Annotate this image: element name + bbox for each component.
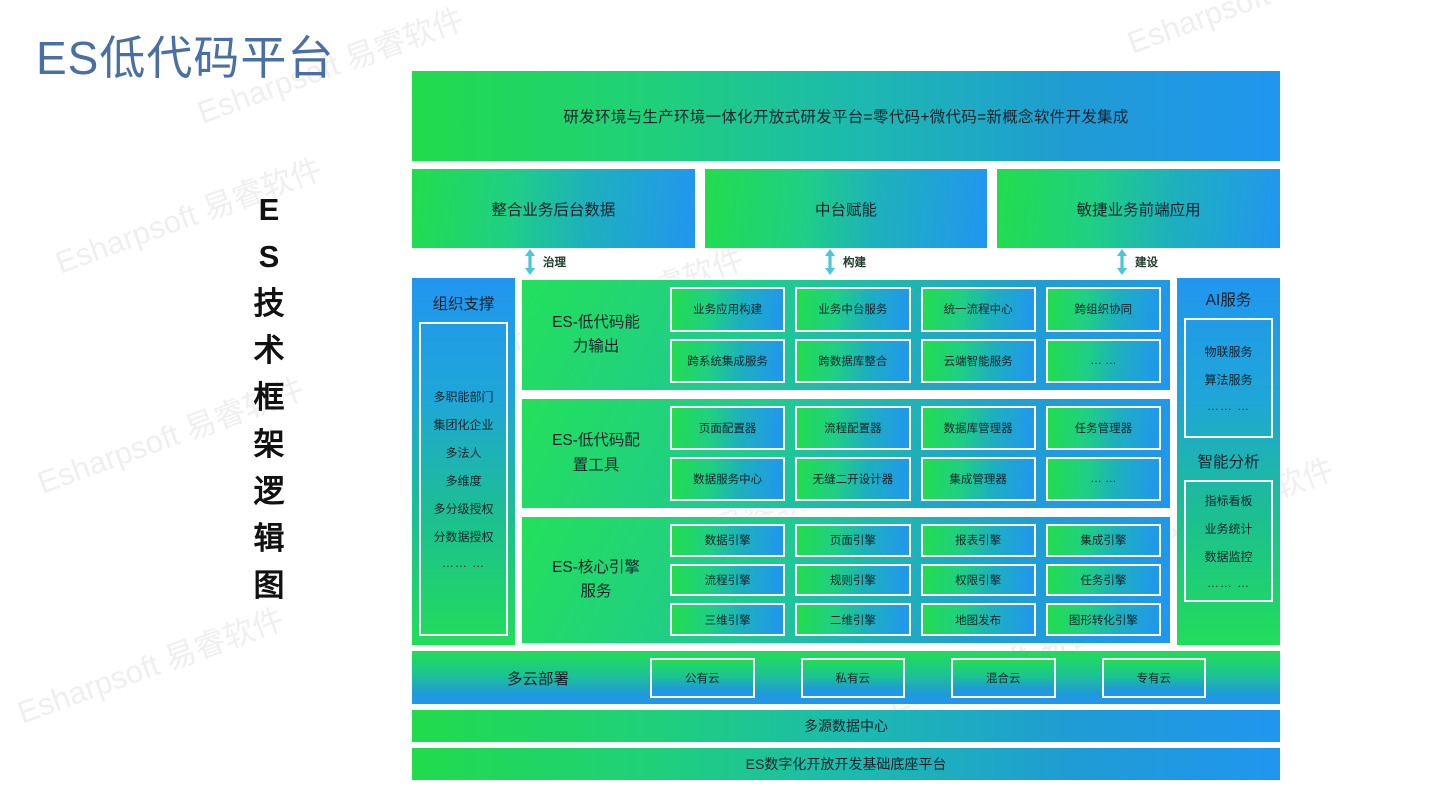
list-item[interactable]: 指标看板 — [1204, 492, 1252, 509]
band-row: 页面配置器 流程配置器 数据库管理器 任务管理器 — [670, 406, 1161, 450]
pillar-card[interactable]: 整合业务后台数据 — [412, 169, 695, 248]
connector-arrow-construction: 建设 — [1116, 249, 1158, 275]
double-arrow-vertical-icon — [824, 249, 836, 275]
capability-cell[interactable]: 业务中台服务 — [795, 287, 910, 332]
double-arrow-vertical-icon — [524, 249, 536, 275]
capability-cell-ellipsis[interactable]: … … — [1046, 457, 1161, 501]
capability-cell[interactable]: 权限引擎 — [921, 564, 1036, 597]
vertical-title-char: 架 — [243, 421, 295, 468]
watermark: Esharpsoft 易睿软件 — [1120, 0, 1399, 62]
headline-banner: 研发环境与生产环境一体化开放式研发平台=零代码+微代码=新概念软件开发集成 — [412, 71, 1280, 161]
ai-services-column: AI服务 物联服务 算法服务 …… … 智能分析 指标看板 业务统计 数据监控 … — [1177, 278, 1280, 645]
vertical-title-char: 框 — [243, 374, 295, 421]
multi-cloud-deployment-row: 多云部署 公有云 私有云 混合云 专有云 — [412, 651, 1280, 704]
capability-cell-ellipsis[interactable]: … … — [1046, 339, 1161, 384]
pillars-row: 整合业务后台数据 中台赋能 敏捷业务前端应用 — [412, 169, 1280, 248]
capability-cell[interactable]: 二维引擎 — [795, 603, 910, 636]
list-item[interactable]: 数据监控 — [1204, 548, 1252, 565]
capability-cell[interactable]: 跨数据库整合 — [795, 339, 910, 384]
architecture-diagram: 研发环境与生产环境一体化开放式研发平台=零代码+微代码=新概念软件开发集成 整合… — [412, 71, 1280, 785]
cloud-cell[interactable]: 公有云 — [650, 658, 755, 698]
capability-cell[interactable]: 任务管理器 — [1046, 406, 1161, 450]
capability-cell[interactable]: 集成引擎 — [1046, 524, 1161, 557]
ai-services-list: 物联服务 算法服务 …… … — [1184, 318, 1273, 438]
capability-cell[interactable]: 任务引擎 — [1046, 564, 1161, 597]
band-row: 三维引擎 二维引擎 地图发布 图形转化引擎 — [670, 603, 1161, 636]
band-lowcode-output: ES-低代码能 力输出 业务应用构建 业务中台服务 统一流程中心 跨组织协同 跨… — [520, 278, 1172, 392]
capability-cell[interactable]: 数据服务中心 — [670, 457, 785, 501]
band-row: 数据服务中心 无缝二开设计器 集成管理器 … … — [670, 457, 1161, 501]
list-item[interactable]: 多维度 — [445, 472, 481, 489]
middle-region: 组织支撑 多职能部门 集团化企业 多法人 多维度 多分级授权 分数据授权 …… … — [412, 278, 1280, 645]
pillar-card[interactable]: 中台赋能 — [705, 169, 988, 248]
capability-cell[interactable]: 无缝二开设计器 — [795, 457, 910, 501]
capability-bands: ES-低代码能 力输出 业务应用构建 业务中台服务 统一流程中心 跨组织协同 跨… — [520, 278, 1172, 645]
band-row: 流程引擎 规则引擎 权限引擎 任务引擎 — [670, 564, 1161, 597]
vertical-diagram-title: E S 技 术 框 架 逻 辑 图 — [243, 186, 295, 609]
cloud-cell[interactable]: 专有云 — [1102, 658, 1207, 698]
connector-arrow-label: 治理 — [543, 254, 566, 270]
list-item[interactable]: 集团化企业 — [433, 416, 493, 433]
org-support-column: 组织支撑 多职能部门 集团化企业 多法人 多维度 多分级授权 分数据授权 …… … — [412, 278, 515, 645]
ai-services-heading: AI服务 — [1206, 286, 1252, 318]
list-item[interactable]: 多职能部门 — [433, 388, 493, 405]
list-item[interactable]: 业务统计 — [1204, 520, 1252, 537]
band-row: 业务应用构建 业务中台服务 统一流程中心 跨组织协同 — [670, 287, 1161, 332]
connector-arrow-label: 建设 — [1135, 254, 1158, 270]
band-lowcode-config-tools: ES-低代码配 置工具 页面配置器 流程配置器 数据库管理器 任务管理器 数据服… — [520, 397, 1172, 510]
multi-source-datacenter-row[interactable]: 多源数据中心 — [412, 710, 1280, 742]
capability-cell[interactable]: 页面配置器 — [670, 406, 785, 450]
capability-cell[interactable]: 数据库管理器 — [921, 406, 1036, 450]
vertical-title-char: 技 — [243, 280, 295, 327]
org-support-heading: 组织支撑 — [432, 287, 494, 322]
vertical-title-char: 图 — [243, 562, 295, 609]
band-grid: 页面配置器 流程配置器 数据库管理器 任务管理器 数据服务中心 无缝二开设计器 … — [670, 406, 1161, 501]
pillar-card[interactable]: 敏捷业务前端应用 — [997, 169, 1280, 248]
double-arrow-vertical-icon — [1116, 249, 1128, 275]
capability-cell[interactable]: 集成管理器 — [921, 457, 1036, 501]
list-item-ellipsis: …… … — [442, 556, 485, 570]
connector-arrow-build: 构建 — [824, 249, 866, 275]
list-item[interactable]: 算法服务 — [1204, 371, 1252, 388]
band-title: ES-低代码能 力输出 — [522, 287, 670, 383]
capability-cell[interactable]: 流程引擎 — [670, 564, 785, 597]
vertical-title-char: 逻 — [243, 468, 295, 515]
connector-arrows-row: 治理 构建 建设 — [412, 248, 1280, 278]
vertical-title-char: 辑 — [243, 515, 295, 562]
cloud-cell[interactable]: 私有云 — [801, 658, 906, 698]
capability-cell[interactable]: 地图发布 — [921, 603, 1036, 636]
org-support-list: 多职能部门 集团化企业 多法人 多维度 多分级授权 分数据授权 …… … — [419, 322, 508, 636]
page-title: ES低代码平台 — [36, 22, 334, 88]
band-title: ES-低代码配 置工具 — [522, 406, 670, 501]
list-item[interactable]: 多分级授权 — [433, 500, 493, 517]
capability-cell[interactable]: 统一流程中心 — [921, 287, 1036, 332]
capability-cell[interactable]: 图形转化引擎 — [1046, 603, 1161, 636]
list-item[interactable]: 多法人 — [445, 444, 481, 461]
capability-cell[interactable]: 数据引擎 — [670, 524, 785, 557]
band-core-engine-services: ES-核心引擎 服务 数据引擎 页面引擎 报表引擎 集成引擎 流程引擎 规则引擎… — [520, 515, 1172, 645]
capability-cell[interactable]: 页面引擎 — [795, 524, 910, 557]
connector-arrow-governance: 治理 — [524, 249, 566, 275]
capability-cell[interactable]: 三维引擎 — [670, 603, 785, 636]
list-item-ellipsis: …… … — [1207, 399, 1250, 413]
band-row: 跨系统集成服务 跨数据库整合 云端智能服务 … … — [670, 339, 1161, 384]
analytics-heading: 智能分析 — [1197, 448, 1259, 480]
cloud-cells: 公有云 私有云 混合云 专有云 — [650, 658, 1266, 698]
connector-arrow-label: 构建 — [843, 254, 866, 270]
vertical-title-char: 术 — [243, 327, 295, 374]
list-item[interactable]: 物联服务 — [1204, 343, 1252, 360]
band-grid: 业务应用构建 业务中台服务 统一流程中心 跨组织协同 跨系统集成服务 跨数据库整… — [670, 287, 1161, 383]
band-row: 数据引擎 页面引擎 报表引擎 集成引擎 — [670, 524, 1161, 557]
capability-cell[interactable]: 业务应用构建 — [670, 287, 785, 332]
band-grid: 数据引擎 页面引擎 报表引擎 集成引擎 流程引擎 规则引擎 权限引擎 任务引擎 — [670, 524, 1161, 636]
base-platform-row[interactable]: ES数字化开放开发基础底座平台 — [412, 748, 1280, 780]
capability-cell[interactable]: 跨系统集成服务 — [670, 339, 785, 384]
capability-cell[interactable]: 报表引擎 — [921, 524, 1036, 557]
analytics-list: 指标看板 业务统计 数据监控 …… … — [1184, 480, 1273, 602]
multi-cloud-title: 多云部署 — [426, 667, 650, 689]
capability-cell[interactable]: 云端智能服务 — [921, 339, 1036, 384]
vertical-title-char: E — [243, 186, 295, 233]
list-item-ellipsis: …… … — [1207, 576, 1250, 590]
list-item[interactable]: 分数据授权 — [433, 528, 493, 545]
cloud-cell[interactable]: 混合云 — [951, 658, 1056, 698]
capability-cell[interactable]: 流程配置器 — [795, 406, 910, 450]
band-title: ES-核心引擎 服务 — [522, 524, 670, 636]
capability-cell[interactable]: 跨组织协同 — [1046, 287, 1161, 332]
slide-canvas: Esharpsoft 易睿软件 Esharpsoft 易睿软件 Esharpso… — [0, 0, 1435, 808]
vertical-title-char: S — [243, 233, 295, 280]
capability-cell[interactable]: 规则引擎 — [795, 564, 910, 597]
watermark: Esharpsoft 易睿软件 — [10, 594, 289, 732]
